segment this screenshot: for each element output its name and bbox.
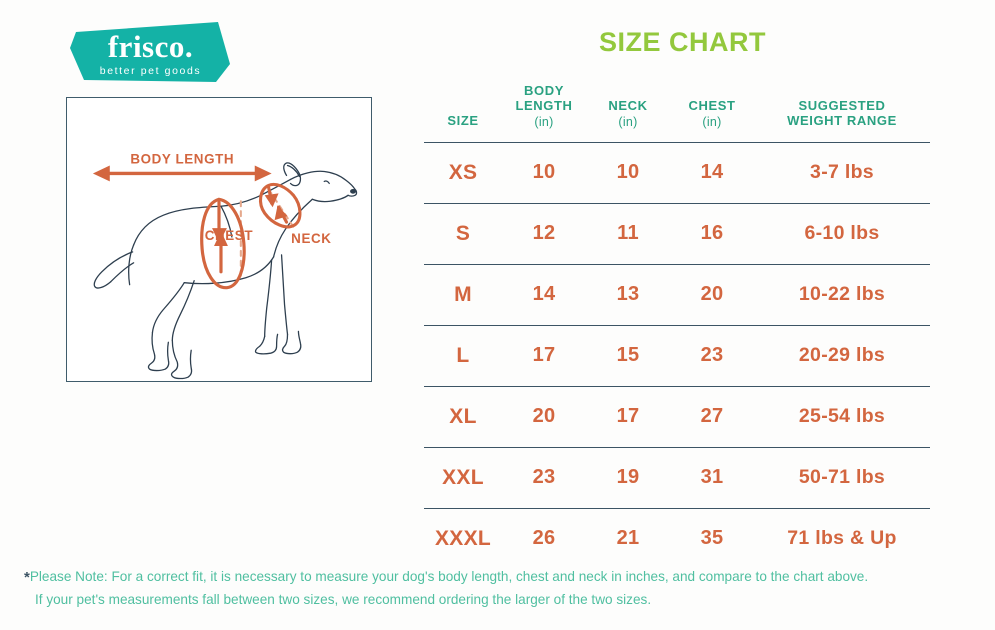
body-length-label: BODY LENGTH bbox=[130, 152, 234, 167]
footnote: *Please Note: For a correct fit, it is n… bbox=[24, 566, 974, 610]
cell-size: XXXL bbox=[424, 508, 502, 569]
table-row: XL 20 17 27 25-54 lbs bbox=[424, 386, 930, 447]
logo-text: frisco. better pet goods bbox=[68, 18, 233, 86]
cell-neck: 10 bbox=[586, 142, 670, 203]
cell-chest: 35 bbox=[670, 508, 754, 569]
cell-body-length: 17 bbox=[502, 325, 586, 386]
cell-chest: 14 bbox=[670, 142, 754, 203]
cell-size: XL bbox=[424, 386, 502, 447]
table-row: S 12 11 16 6-10 lbs bbox=[424, 203, 930, 264]
measurement-diagram: BODY LENGTH CHEST NECK bbox=[66, 97, 372, 382]
header-row: SIZE BODY LENGTH (in) NECK (in) CHEST (i… bbox=[424, 84, 930, 142]
table-row: XXXL 26 21 35 71 lbs & Up bbox=[424, 508, 930, 569]
page-title: SIZE CHART bbox=[430, 27, 935, 58]
table-row: M 14 13 20 10-22 lbs bbox=[424, 264, 930, 325]
cell-weight: 50-71 lbs bbox=[754, 447, 930, 508]
cell-neck: 15 bbox=[586, 325, 670, 386]
cell-neck: 19 bbox=[586, 447, 670, 508]
table-body: XS 10 10 14 3-7 lbs S 12 11 16 6-10 lbs … bbox=[424, 142, 930, 569]
header-neck-unit: (in) bbox=[586, 115, 670, 129]
header-neck: NECK (in) bbox=[586, 84, 670, 142]
cell-body-length: 23 bbox=[502, 447, 586, 508]
cell-chest: 16 bbox=[670, 203, 754, 264]
cell-chest: 27 bbox=[670, 386, 754, 447]
footnote-line-1: Please Note: For a correct fit, it is ne… bbox=[30, 569, 868, 584]
cell-neck: 17 bbox=[586, 386, 670, 447]
header-chest: CHEST (in) bbox=[670, 84, 754, 142]
logo-wordmark: frisco. bbox=[108, 31, 193, 62]
cell-body-length: 10 bbox=[502, 142, 586, 203]
cell-weight: 71 lbs & Up bbox=[754, 508, 930, 569]
logo-tagline: better pet goods bbox=[100, 66, 202, 77]
cell-weight: 3-7 lbs bbox=[754, 142, 930, 203]
neck-label: NECK bbox=[291, 231, 331, 246]
cell-size: L bbox=[424, 325, 502, 386]
cell-body-length: 20 bbox=[502, 386, 586, 447]
cell-neck: 11 bbox=[586, 203, 670, 264]
cell-body-length: 14 bbox=[502, 264, 586, 325]
table-row: XS 10 10 14 3-7 lbs bbox=[424, 142, 930, 203]
cell-chest: 23 bbox=[670, 325, 754, 386]
cell-neck: 21 bbox=[586, 508, 670, 569]
cell-size: XS bbox=[424, 142, 502, 203]
dog-outline-icon bbox=[94, 163, 356, 379]
cell-weight: 25-54 lbs bbox=[754, 386, 930, 447]
header-size: SIZE bbox=[424, 84, 502, 142]
cell-weight: 6-10 lbs bbox=[754, 203, 930, 264]
frisco-logo: frisco. better pet goods bbox=[68, 18, 233, 86]
table-row: XXL 23 19 31 50-71 lbs bbox=[424, 447, 930, 508]
header-suggested-weight-range: SUGGESTED WEIGHT RANGE bbox=[754, 84, 930, 142]
footnote-line-2: If your pet's measurements fall between … bbox=[24, 589, 974, 610]
header-body-length: BODY LENGTH (in) bbox=[502, 84, 586, 142]
cell-body-length: 12 bbox=[502, 203, 586, 264]
cell-chest: 20 bbox=[670, 264, 754, 325]
dog-measurement-illustration: BODY LENGTH CHEST NECK bbox=[67, 98, 371, 381]
table-row: L 17 15 23 20-29 lbs bbox=[424, 325, 930, 386]
cell-neck: 13 bbox=[586, 264, 670, 325]
table-header: SIZE BODY LENGTH (in) NECK (in) CHEST (i… bbox=[424, 84, 930, 142]
cell-weight: 20-29 lbs bbox=[754, 325, 930, 386]
cell-size: XXL bbox=[424, 447, 502, 508]
cell-chest: 31 bbox=[670, 447, 754, 508]
cell-weight: 10-22 lbs bbox=[754, 264, 930, 325]
cell-body-length: 26 bbox=[502, 508, 586, 569]
header-chest-unit: (in) bbox=[670, 115, 754, 129]
chest-label: CHEST bbox=[205, 228, 254, 243]
cell-size: S bbox=[424, 203, 502, 264]
size-chart-table: SIZE BODY LENGTH (in) NECK (in) CHEST (i… bbox=[424, 84, 930, 569]
body-length-arrow-icon bbox=[93, 166, 272, 182]
cell-size: M bbox=[424, 264, 502, 325]
header-body-length-unit: (in) bbox=[502, 115, 586, 129]
